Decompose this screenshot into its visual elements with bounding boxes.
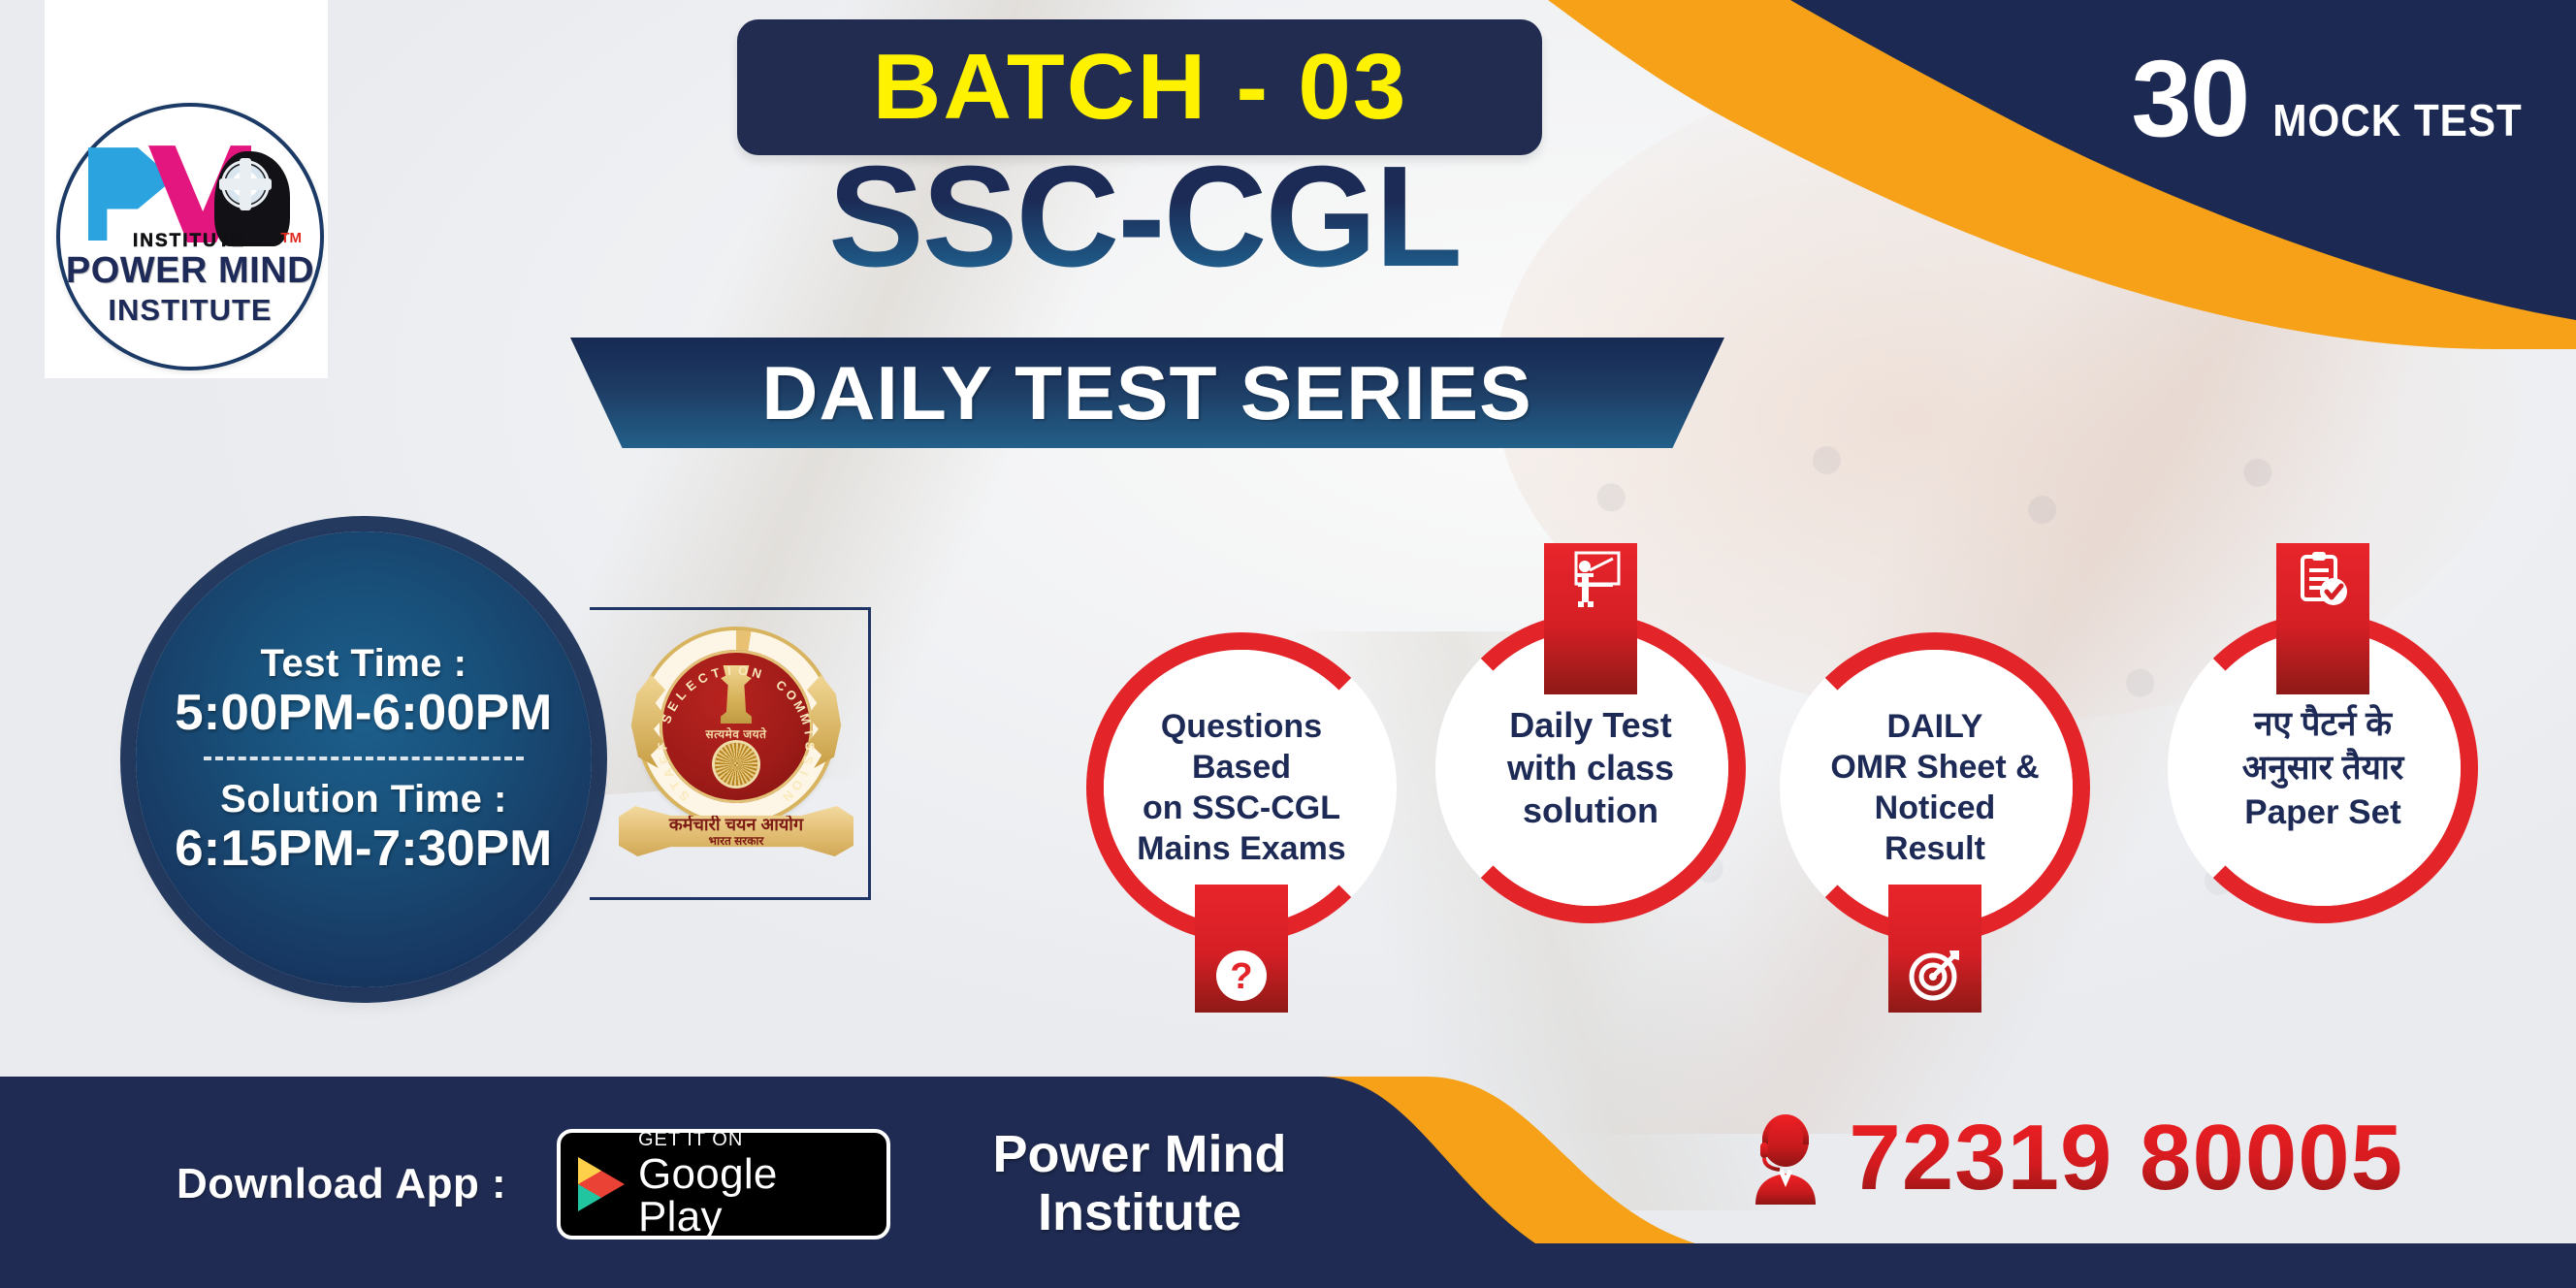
feature-circle-2: Daily Test with class solution — [1435, 613, 1746, 923]
feature-1-text: Questions Based on SSC-CGL Mains Exams — [1137, 706, 1345, 870]
trademark-icon: TM — [280, 230, 302, 246]
google-play-button[interactable]: GET IT ON Google Play — [557, 1129, 890, 1240]
test-time-value: 5:00PM-6:00PM — [175, 686, 552, 741]
series-label: DAILY TEST SERIES — [762, 355, 1532, 431]
google-play-big-label: Google Play — [638, 1153, 869, 1239]
clipboard-check-icon — [2276, 543, 2369, 694]
brand-logo: INSTITUTE TM POWER MIND INSTITUTE — [56, 103, 324, 370]
mock-test-count: 30 MOCK TEST — [2132, 45, 2533, 153]
solution-time-value: 6:15PM-7:30PM — [175, 821, 552, 877]
logo-mark-icon: INSTITUTE TM — [84, 145, 296, 250]
divider — [204, 757, 524, 760]
google-play-small-label: GET IT ON — [638, 1130, 869, 1149]
page-title: SSC-CGL — [679, 145, 1610, 289]
feature-circle-4: नए पैटर्न के अनुसार तैयार Paper Set — [2168, 613, 2478, 923]
footer-institute-name: Power Mind Institute — [931, 1126, 1348, 1241]
ssc-emblem-frame: सत्यमेव जयते STAFF SELECTION COMMISSION … — [590, 607, 871, 900]
promo-banner: INSTITUTE TM POWER MIND INSTITUTE BATCH … — [0, 0, 2576, 1288]
logo-subname: INSTITUTE — [108, 293, 272, 328]
series-banner: DAILY TEST SERIES — [570, 338, 1724, 448]
mock-count-label: MOCK TEST — [2272, 94, 2522, 146]
emblem-ribbon-line1: कर्मचारी चयन आयोग — [669, 816, 803, 833]
contact-phone[interactable]: 72319 80005 — [1744, 1111, 2403, 1205]
question-mark-icon: ? — [1195, 885, 1288, 1013]
batch-label: BATCH - 03 — [872, 41, 1407, 134]
feature-circle-1: Questions Based on SSC-CGL Mains Exams ? — [1086, 632, 1397, 943]
emblem-arc-text: STAFF SELECTION COMMISSION — [650, 658, 822, 830]
test-time-label: Test Time : — [261, 642, 467, 686]
feature-4-text: नए पैटर्न के अनुसार तैयार Paper Set — [2242, 702, 2404, 835]
batch-badge: BATCH - 03 — [737, 19, 1542, 155]
footer-bottom-strip — [1218, 1243, 2576, 1288]
gear-icon — [224, 163, 267, 206]
emblem-ribbon-line2: भारत सरकार — [709, 835, 764, 847]
ssc-emblem-icon: सत्यमेव जयते STAFF SELECTION COMMISSION … — [617, 625, 855, 867]
phone-number: 72319 80005 — [1849, 1111, 2403, 1205]
google-play-icon — [578, 1157, 625, 1211]
target-dart-icon — [1888, 885, 1981, 1013]
feature-3-text: DAILY OMR Sheet & Noticed Result — [1830, 706, 2039, 870]
feature-circle-3: DAILY OMR Sheet & Noticed Result — [1780, 632, 2090, 943]
logo-name: POWER MIND — [66, 252, 314, 290]
download-app-label: Download App : — [177, 1160, 506, 1208]
schedule-circle: Test Time : 5:00PM-6:00PM Solution Time … — [136, 531, 592, 987]
logo-mark-sub: INSTITUTE — [133, 231, 245, 252]
teacher-board-icon — [1544, 543, 1637, 694]
feature-2-text: Daily Test with class solution — [1507, 704, 1674, 832]
mock-count-number: 30 — [2132, 45, 2249, 153]
support-agent-icon — [1744, 1111, 1827, 1205]
solution-time-label: Solution Time : — [220, 778, 507, 821]
svg-text:?: ? — [1230, 956, 1252, 997]
